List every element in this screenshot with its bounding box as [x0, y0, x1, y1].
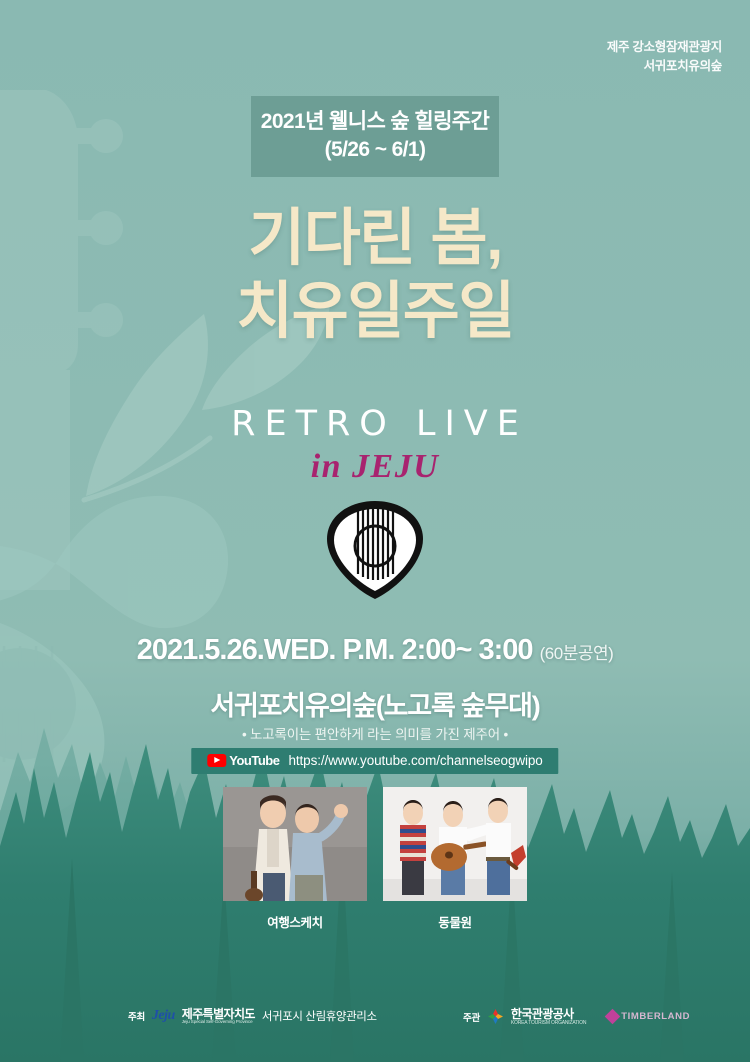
- organizer-name: 한국관광공사: [511, 1008, 586, 1021]
- jeju-logo: Jeju: [152, 1009, 175, 1023]
- host-org-block: 제주특별자치도 Jeju Special Self-Governing Prov…: [182, 1008, 255, 1025]
- retro-live-title: RETRO LIVE: [0, 404, 750, 444]
- footer: 주최 Jeju 제주특별자치도 Jeju Special Self-Govern…: [0, 1008, 750, 1034]
- headline-line1: 기다린 봄,: [248, 204, 502, 273]
- sponsor-logo: TIMBERLAND: [607, 1011, 690, 1022]
- host-label: 주최: [128, 1009, 145, 1023]
- host-office: 서귀포시 산림휴양관리소: [262, 1008, 377, 1024]
- guitar-pick-icon: [322, 498, 428, 602]
- page-title: 기다린 봄, 치유일주일: [0, 202, 750, 348]
- artist-caption: 여행스케치: [223, 912, 367, 931]
- organizer-name-sub: KOREA TOURISM ORGANIZATION: [511, 1021, 586, 1026]
- youtube-url[interactable]: https://www.youtube.com/channelseogwipo: [288, 753, 542, 768]
- sponsor-name: TIMBERLAND: [621, 1011, 690, 1022]
- wellness-week-banner: 2021년 웰니스 숲 힐링주간 (5/26 ~ 6/1): [251, 96, 499, 177]
- youtube-brand: YouTube: [229, 753, 279, 768]
- duo-photo-illustration: [223, 787, 367, 901]
- in-jeju-subtitle: in JEJU: [0, 448, 750, 486]
- footer-organizer-group: 주관 한국관광공사 KOREA TOURISM ORGANIZATION TIM…: [463, 1008, 690, 1026]
- event-venue: 서귀포치유의숲(노고록 숲무대): [0, 684, 750, 723]
- artist-caption: 동물원: [383, 912, 527, 931]
- banner-line1: 2021년 웰니스 숲 힐링주간: [261, 110, 490, 133]
- poster-root: 제주 강소형잠재관광지 서귀포치유의숲 2021년 웰니스 숲 힐링주간 (5/…: [0, 0, 750, 1062]
- artist-gallery: 여행스케치: [223, 787, 527, 931]
- event-date-time-text: 2021.5.26.WED. P.M. 2:00~ 3:00: [137, 634, 533, 666]
- artist-photo-duo: [223, 787, 367, 901]
- youtube-link-bar[interactable]: YouTube https://www.youtube.com/channels…: [191, 748, 558, 774]
- headline-line2: 치유일주일: [0, 275, 750, 348]
- play-icon: [207, 754, 226, 767]
- organizer-name-block: 한국관광공사 KOREA TOURISM ORGANIZATION: [511, 1008, 586, 1026]
- host-org-sub: Jeju Special Self-Governing Province: [182, 1020, 255, 1025]
- event-note: • 노고록이는 편안하게 라는 의미를 가진 제주어 •: [0, 723, 750, 743]
- event-datetime: 2021.5.26.WED. P.M. 2:00~ 3:00 (60분공연): [0, 634, 750, 667]
- organizer-label: 주관: [463, 1010, 480, 1024]
- diamond-icon: [605, 1009, 621, 1025]
- banner-line2: (5/26 ~ 6/1): [251, 136, 499, 164]
- top-credit: 제주 강소형잠재관광지 서귀포치유의숲: [607, 38, 722, 77]
- top-credit-line1: 제주 강소형잠재관광지: [607, 38, 722, 57]
- trio-photo-illustration: [383, 787, 527, 901]
- artist-card: 동물원: [383, 787, 527, 931]
- youtube-logo: YouTube: [207, 753, 279, 768]
- event-duration: (60분공연): [540, 644, 614, 663]
- guitar-pick-logo: [322, 498, 428, 602]
- artist-photo-trio: [383, 787, 527, 901]
- top-credit-line2: 서귀포치유의숲: [607, 57, 722, 76]
- korea-tourism-organization-icon: [487, 1008, 504, 1025]
- artist-card: 여행스케치: [223, 787, 367, 931]
- footer-host-group: 주최 Jeju 제주특별자치도 Jeju Special Self-Govern…: [128, 1008, 377, 1025]
- jeju-logo-wordmark: Jeju: [152, 1009, 175, 1023]
